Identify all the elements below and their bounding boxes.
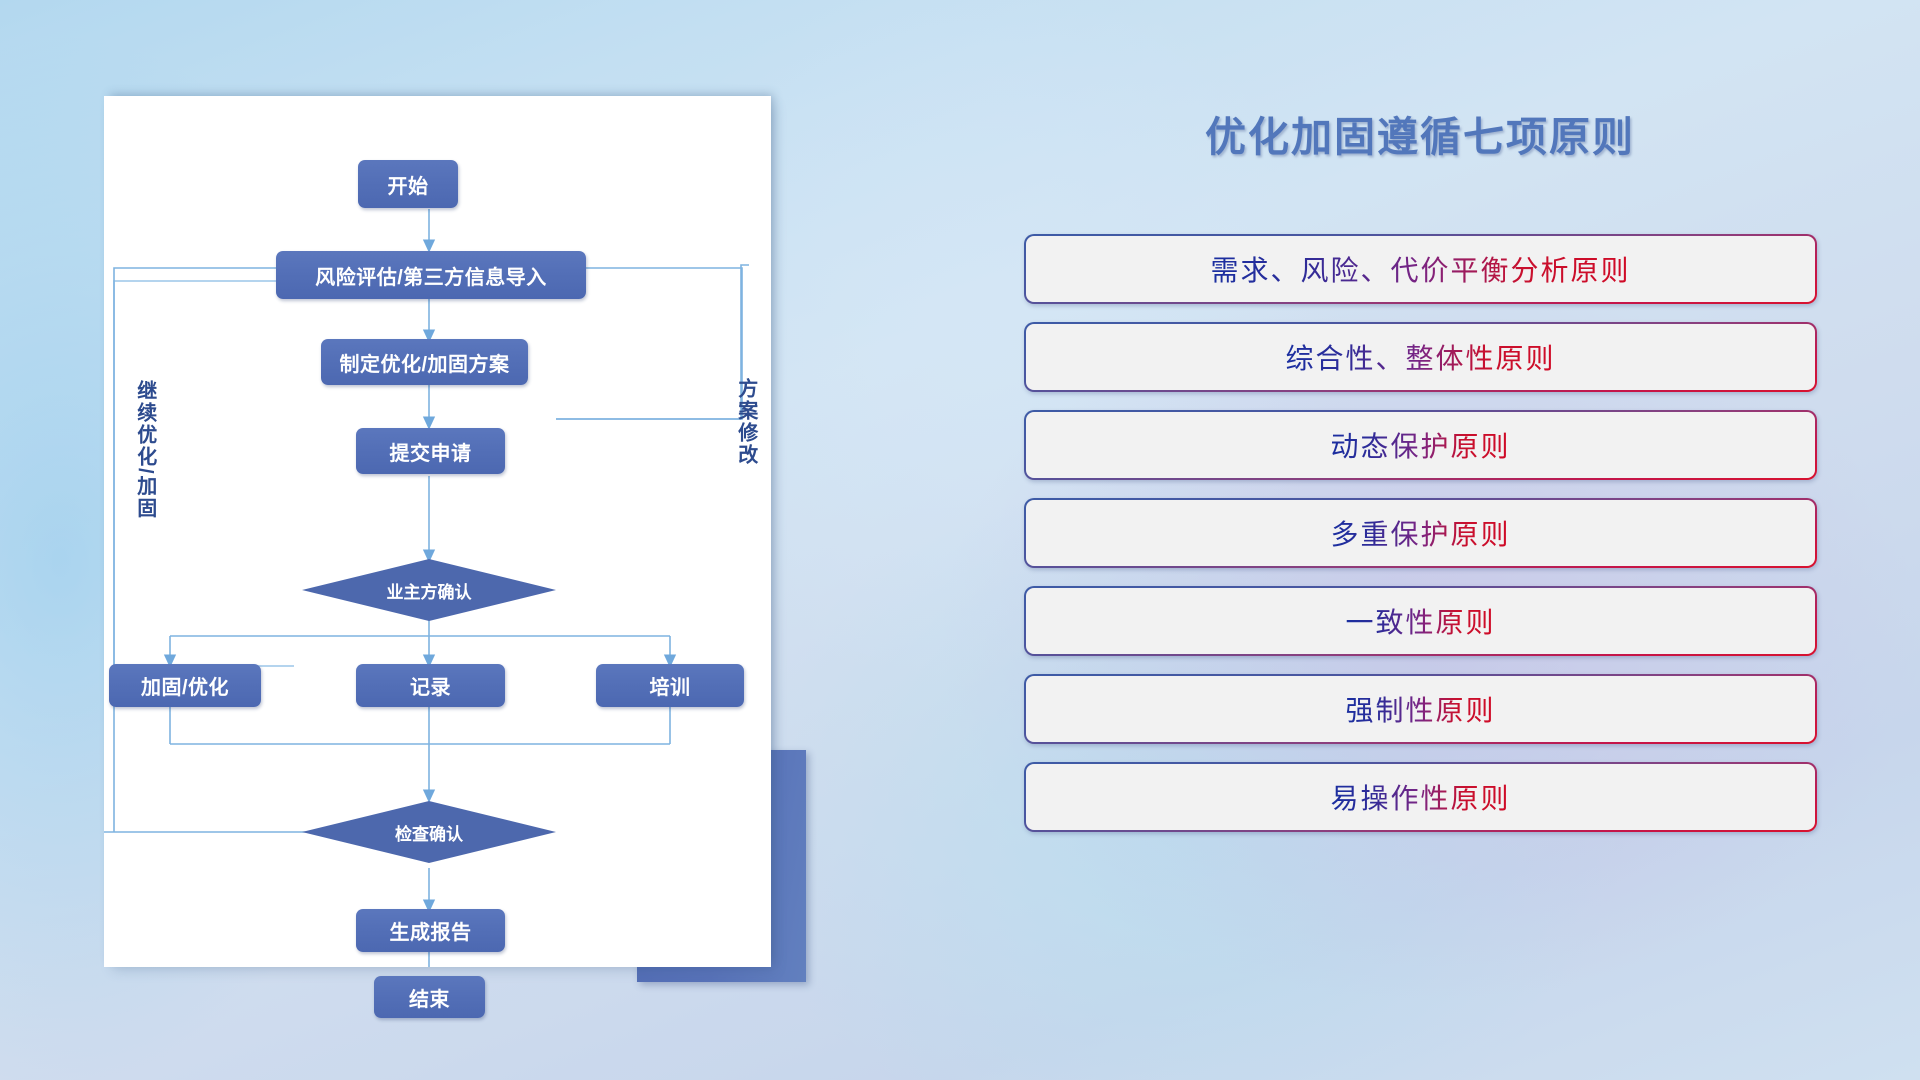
flow-node-label: 检查确认 [395,820,463,845]
principle-label: 需求、风险、代价平衡分析原则 [1210,249,1630,289]
flow-node-label: 生成报告 [390,916,472,945]
panel-title: 优化加固遵循七项原则 [1020,103,1820,163]
principle-box[interactable]: 一致性原则 [1024,586,1817,656]
principle-label: 一致性原则 [1345,601,1495,641]
principle-box-inner: 综合性、整体性原则 [1026,324,1815,390]
flowchart: 开始 风险评估/第三方信息导入 制定优化/加固方案 提交申请 业主方确认 加固/… [104,96,771,967]
flow-node-label: 培训 [650,671,691,700]
principle-label: 动态保护原则 [1330,425,1510,465]
flow-node-end[interactable]: 结束 [374,976,485,1018]
flow-node-owner-confirm[interactable]: 业主方确认 [302,559,556,621]
principle-box[interactable]: 综合性、整体性原则 [1024,322,1817,392]
principle-box[interactable]: 需求、风险、代价平衡分析原则 [1024,234,1817,304]
principle-box-inner: 易操作性原则 [1026,764,1815,830]
flow-node-reinforce[interactable]: 加固/优化 [109,664,261,707]
principle-label: 综合性、整体性原则 [1285,337,1555,377]
flow-node-label: 业主方确认 [387,578,472,603]
principle-list: 需求、风险、代价平衡分析原则综合性、整体性原则动态保护原则多重保护原则一致性原则… [1024,234,1817,850]
flow-node-label: 开始 [388,170,429,199]
flow-node-label: 结束 [409,983,450,1012]
flow-node-label: 提交申请 [390,437,472,466]
flow-node-start[interactable]: 开始 [358,160,458,208]
flow-node-check-confirm[interactable]: 检查确认 [302,801,556,863]
principle-label: 强制性原则 [1345,689,1495,729]
flow-node-generate-report[interactable]: 生成报告 [356,909,505,952]
flow-node-training[interactable]: 培训 [596,664,744,707]
principle-box[interactable]: 动态保护原则 [1024,410,1817,480]
principle-box-inner: 一致性原则 [1026,588,1815,654]
principle-label: 多重保护原则 [1330,513,1510,553]
principles-panel: 优化加固遵循七项原则 需求、风险、代价平衡分析原则综合性、整体性原则动态保护原则… [1020,96,1820,996]
edge-label-continue-optimize: 继续优化/加固 [134,380,155,520]
flow-node-label: 风险评估/第三方信息导入 [315,261,547,290]
flow-node-submit-application[interactable]: 提交申请 [356,428,505,474]
principle-box-inner: 强制性原则 [1026,676,1815,742]
flow-node-label: 制定优化/加固方案 [339,348,509,377]
principle-box[interactable]: 强制性原则 [1024,674,1817,744]
flow-node-record[interactable]: 记录 [356,664,505,707]
principle-box[interactable]: 易操作性原则 [1024,762,1817,832]
principle-box-inner: 多重保护原则 [1026,500,1815,566]
flow-node-label: 记录 [410,671,451,700]
flow-node-risk-assessment[interactable]: 风险评估/第三方信息导入 [276,251,586,299]
flow-node-plan[interactable]: 制定优化/加固方案 [321,339,528,385]
edge-label-plan-revision: 方案修改 [735,378,756,466]
principle-box[interactable]: 多重保护原则 [1024,498,1817,568]
principle-label: 易操作性原则 [1330,777,1510,817]
principle-box-inner: 需求、风险、代价平衡分析原则 [1026,236,1815,302]
flow-node-label: 加固/优化 [141,671,229,700]
principle-box-inner: 动态保护原则 [1026,412,1815,478]
